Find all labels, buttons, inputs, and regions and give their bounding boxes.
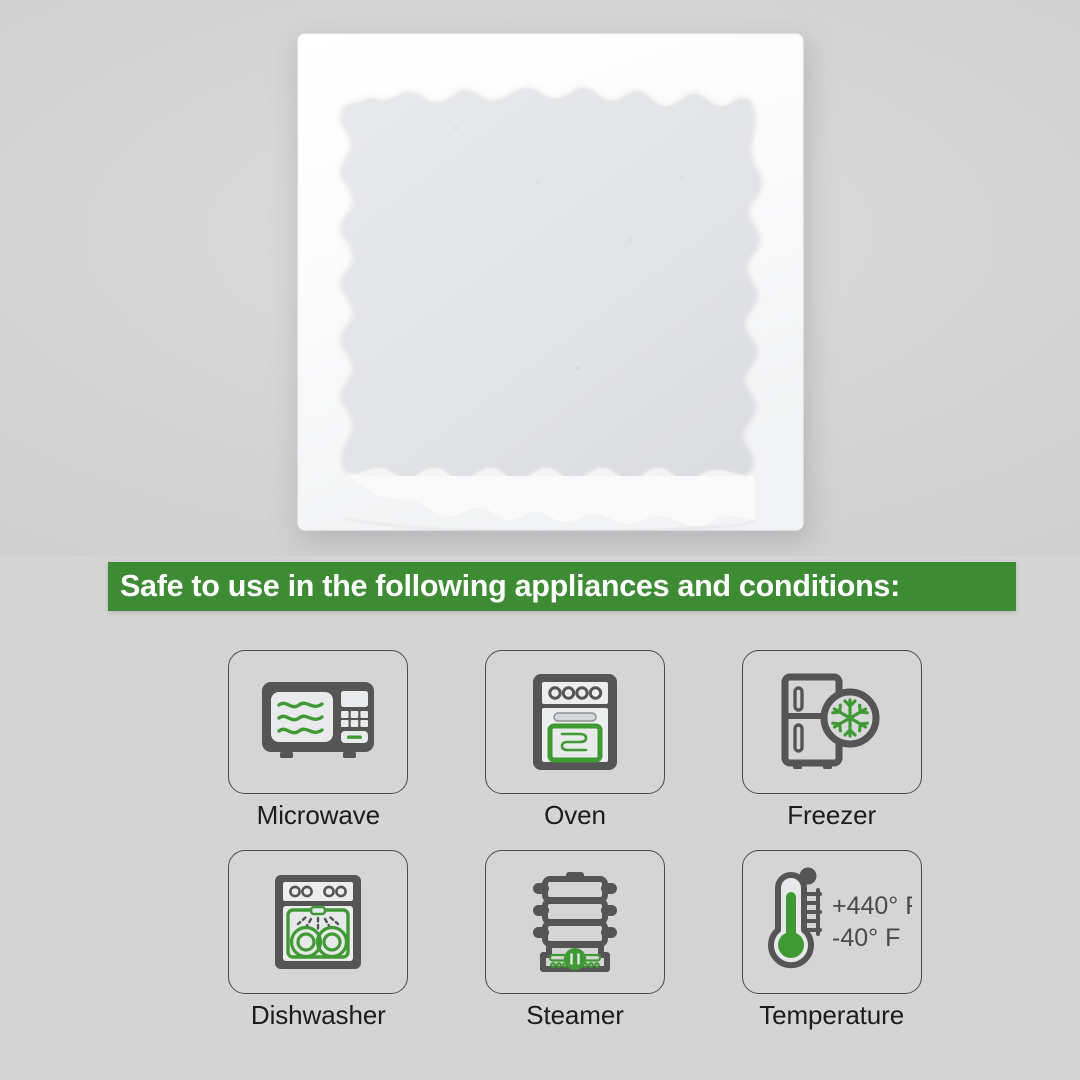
feature-cell-dishwasher: Dishwasher: [190, 850, 447, 1050]
headline-text: Safe to use in the following appliances …: [120, 571, 900, 602]
headline-banner: Safe to use in the following appliances …: [108, 562, 1016, 611]
feature-label-oven: Oven: [544, 801, 606, 830]
feature-card-oven[interactable]: [485, 650, 665, 794]
feature-card-freezer[interactable]: [742, 650, 922, 794]
feature-label-temperature: Temperature: [759, 1001, 904, 1030]
temperature-min-text: -40° F: [832, 924, 900, 952]
feature-cell-microwave: Microwave: [190, 650, 447, 850]
feature-label-dishwasher: Dishwasher: [251, 1001, 386, 1030]
feature-card-microwave[interactable]: [228, 650, 408, 794]
feature-cell-steamer: Steamer: [447, 850, 704, 1050]
freezer-icon: [780, 672, 884, 772]
feature-card-dishwasher[interactable]: [228, 850, 408, 994]
mold-illustration: [292, 28, 812, 536]
feature-cell-temperature: +440° F -40° F Temperature: [703, 850, 960, 1050]
silicone-mold-image: [292, 28, 812, 536]
appliance-feature-grid: Microwave Oven: [190, 650, 960, 1050]
feature-label-microwave: Microwave: [257, 801, 380, 830]
steamer-icon: [523, 869, 627, 975]
dishwasher-icon: [271, 871, 365, 973]
temperature-max-text: +440° F: [832, 892, 912, 920]
feature-cell-freezer: Freezer: [703, 650, 960, 850]
feature-label-freezer: Freezer: [787, 801, 876, 830]
product-photo: [0, 0, 1080, 556]
thermometer-icon: +440° F -40° F: [752, 866, 912, 978]
oven-icon: [529, 670, 621, 774]
feature-label-steamer: Steamer: [526, 1001, 624, 1030]
microwave-icon: [259, 679, 377, 765]
feature-card-temperature[interactable]: +440° F -40° F: [742, 850, 922, 994]
feature-cell-oven: Oven: [447, 650, 704, 850]
feature-card-steamer[interactable]: [485, 850, 665, 994]
